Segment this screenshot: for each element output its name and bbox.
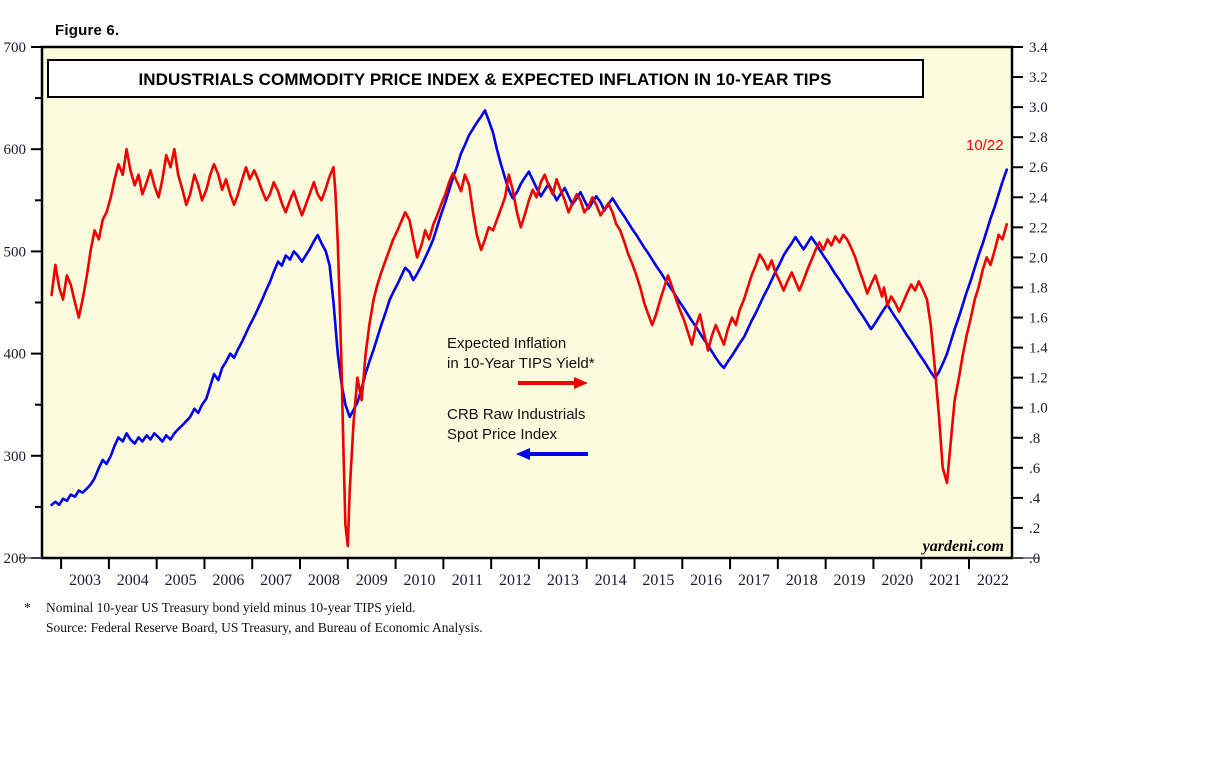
annotation-expected-inflation-line1: Expected Inflation — [447, 335, 566, 352]
plot-background — [42, 47, 1012, 558]
left-axis-tick-label: 500 — [4, 244, 27, 260]
right-axis-labels: .0.2.4.6.81.01.21.41.61.82.02.22.42.62.8… — [1029, 40, 1048, 567]
left-axis-tick-label: 400 — [4, 347, 27, 363]
chart-svg: 200300400500600700 .0.2.4.6.81.01.21.41.… — [0, 0, 1220, 600]
x-axis-labels: 2003200420052006200720082009201020112012… — [69, 572, 1009, 589]
x-axis-tick-label: 2020 — [881, 572, 913, 589]
right-axis-tick-label: 2.6 — [1029, 160, 1048, 176]
right-axis-ticks — [1012, 47, 1023, 558]
footnote-line2: Source: Federal Reserve Board, US Treasu… — [46, 618, 924, 638]
right-axis-tick-label: .0 — [1029, 551, 1040, 567]
left-axis-tick-label: 300 — [4, 449, 27, 465]
x-axis-ticks — [20, 558, 1040, 569]
left-axis-labels: 200300400500600700 — [4, 40, 27, 567]
x-axis-tick-label: 2006 — [212, 572, 244, 589]
left-axis-tick-label: 700 — [4, 40, 27, 56]
right-axis-tick-label: .2 — [1029, 521, 1040, 537]
footnote: * Nominal 10-year US Treasury bond yield… — [24, 598, 924, 637]
right-axis-tick-label: 1.2 — [1029, 371, 1048, 387]
footnote-marker: * — [24, 598, 31, 618]
x-axis-tick-label: 2003 — [69, 572, 101, 589]
chart-title: INDUSTRIALS COMMODITY PRICE INDEX & EXPE… — [138, 70, 831, 89]
right-axis-tick-label: 2.8 — [1029, 130, 1048, 146]
right-axis-tick-label: 3.0 — [1029, 100, 1048, 116]
right-axis-tick-label: .4 — [1029, 491, 1041, 507]
left-axis-ticks — [31, 47, 42, 558]
x-axis-tick-label: 2013 — [547, 572, 579, 589]
x-axis-tick-label: 2017 — [738, 572, 770, 589]
left-axis-tick-label: 600 — [4, 142, 27, 158]
x-axis-tick-label: 2011 — [452, 572, 483, 589]
x-axis-tick-label: 2005 — [165, 572, 197, 589]
left-axis-tick-label: 200 — [4, 551, 27, 567]
footnote-line1: Nominal 10-year US Treasury bond yield m… — [46, 598, 924, 618]
x-axis-tick-label: 2009 — [356, 572, 388, 589]
watermark-yardeni: yardeni.com — [921, 538, 1004, 555]
chart-container: 200300400500600700 .0.2.4.6.81.01.21.41.… — [0, 0, 1220, 600]
x-axis-tick-label: 2022 — [977, 572, 1009, 589]
x-axis-tick-label: 2012 — [499, 572, 531, 589]
right-axis-tick-label: 1.0 — [1029, 401, 1048, 417]
chart-title-box: INDUSTRIALS COMMODITY PRICE INDEX & EXPE… — [48, 60, 923, 97]
right-axis-tick-label: 1.4 — [1029, 341, 1048, 357]
x-axis-tick-label: 2014 — [595, 572, 627, 589]
right-axis-tick-label: 3.2 — [1029, 70, 1048, 86]
right-axis-tick-label: .8 — [1029, 431, 1040, 447]
x-axis-tick-label: 2010 — [403, 572, 435, 589]
right-axis-tick-label: 2.2 — [1029, 220, 1048, 236]
x-axis-tick-label: 2019 — [834, 572, 866, 589]
right-axis-tick-label: 1.6 — [1029, 311, 1048, 327]
x-axis-tick-label: 2021 — [929, 572, 961, 589]
x-axis-tick-label: 2016 — [690, 572, 722, 589]
right-axis-tick-label: 2.4 — [1029, 190, 1048, 206]
annotation-expected-inflation-line2: in 10-Year TIPS Yield* — [447, 355, 595, 372]
right-axis-tick-label: 1.8 — [1029, 280, 1048, 296]
x-axis-tick-label: 2007 — [260, 572, 292, 589]
right-axis-tick-label: .6 — [1029, 461, 1041, 477]
x-axis-tick-label: 2015 — [642, 572, 674, 589]
x-axis-tick-label: 2004 — [117, 572, 149, 589]
end-value-label: 10/22 — [966, 137, 1004, 154]
x-axis-tick-label: 2018 — [786, 572, 818, 589]
annotation-crb-line1: CRB Raw Industrials — [447, 406, 585, 423]
right-axis-tick-label: 3.4 — [1029, 40, 1048, 56]
annotation-crb-line2: Spot Price Index — [447, 426, 558, 443]
x-axis-tick-label: 2008 — [308, 572, 340, 589]
right-axis-tick-label: 2.0 — [1029, 250, 1048, 266]
